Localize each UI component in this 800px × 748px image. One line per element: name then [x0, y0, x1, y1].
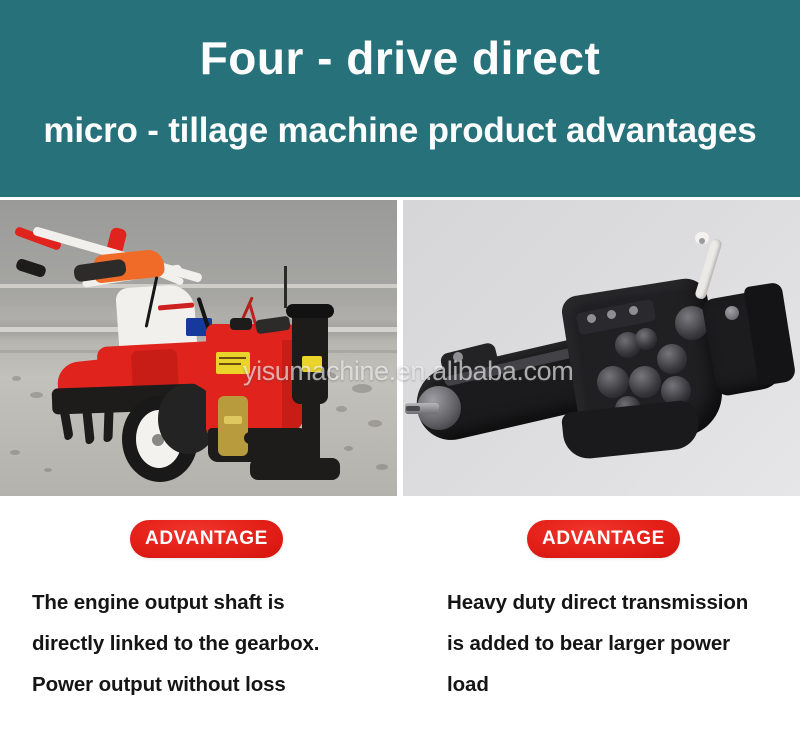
gearbox-boss-4	[635, 328, 657, 350]
micro-tillage-machine-photo	[0, 200, 397, 496]
page-subtitle: micro - tillage machine product advantag…	[43, 112, 756, 150]
advantage-left-line-3: Power output without loss	[32, 664, 392, 705]
status-badge-advantage-right: ADVANTAGE	[527, 520, 680, 558]
gearbox-mount-bolt-left	[453, 352, 463, 362]
header-banner: Four - drive direct micro - tillage mach…	[0, 0, 800, 197]
status-badge-advantage-left: ADVANTAGE	[130, 520, 283, 558]
machine-starter-pulley	[218, 396, 248, 456]
gearbox-bracket-hole-2	[607, 310, 616, 319]
gearbox-shift-lever-pin	[699, 238, 705, 244]
advantage-left-line-1: The engine output shaft is	[32, 582, 392, 623]
photo-row	[0, 200, 800, 496]
machine-rear-frame-crossbar	[244, 432, 316, 444]
gearbox-pto-bolt	[725, 306, 739, 320]
machine-rear-frame-foot	[250, 458, 340, 480]
gearbox-boss-6	[629, 366, 661, 398]
machine-engine-label-line2	[219, 363, 241, 365]
machine-engine-top-fitting	[230, 318, 252, 330]
gearbox-bracket-hole-1	[587, 314, 596, 323]
gearbox-output-shaft-key	[406, 406, 420, 411]
machine-tine-3	[103, 408, 113, 442]
advantage-text-right: Heavy duty direct transmission is added …	[447, 582, 797, 705]
machine-antenna-rod	[284, 266, 287, 308]
gearbox-boss-2	[657, 344, 687, 374]
advantage-right-line-1: Heavy duty direct transmission	[447, 582, 797, 623]
page-title: Four - drive direct	[200, 34, 601, 84]
product-advantages-infographic: Four - drive direct micro - tillage mach…	[0, 0, 800, 748]
machine-yellow-sticker	[302, 356, 322, 372]
advantage-right-line-2: is added to bear larger power	[447, 623, 797, 664]
advantage-text-left: The engine output shaft is directly link…	[32, 582, 392, 705]
machine-starter-detail	[224, 416, 242, 424]
advantage-right-line-3: load	[447, 664, 797, 705]
machine-air-cleaner-cap	[286, 304, 334, 318]
gearbox-boss-5	[597, 366, 629, 398]
gearbox-bracket-hole-3	[629, 306, 638, 315]
advantage-left-line-2: directly linked to the gearbox.	[32, 623, 392, 664]
machine-engine-label-line1	[219, 357, 246, 359]
direct-transmission-gearbox-photo	[403, 200, 800, 496]
